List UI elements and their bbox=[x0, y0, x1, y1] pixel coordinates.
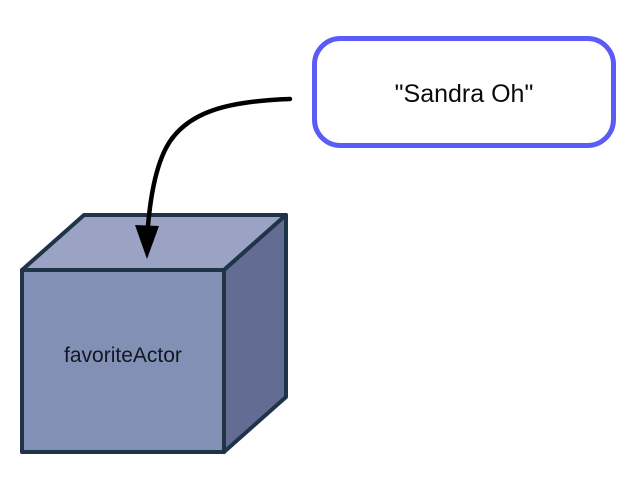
diagram-canvas: favoriteActor "Sandra Oh" bbox=[0, 0, 639, 484]
variable-cube[interactable]: favoriteActor bbox=[22, 215, 286, 452]
value-box-text: "Sandra Oh" bbox=[395, 80, 534, 108]
value-box[interactable]: "Sandra Oh" bbox=[315, 39, 614, 146]
cube-label: favoriteActor bbox=[64, 344, 182, 367]
diagram-svg: favoriteActor "Sandra Oh" bbox=[0, 0, 639, 484]
